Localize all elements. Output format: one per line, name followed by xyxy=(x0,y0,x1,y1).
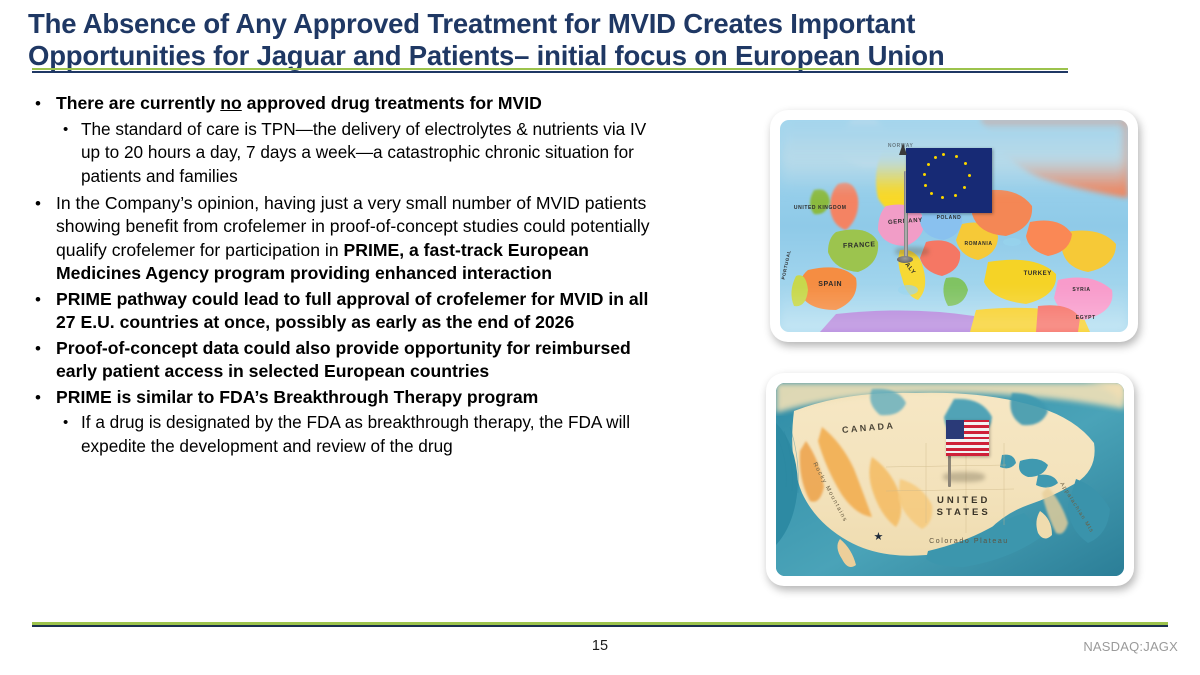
united-states-map-image: CANADA UNITED STATES Rocky Mountains Col… xyxy=(766,373,1134,586)
sub-bullet-list: If a drug is designated by the FDA as br… xyxy=(56,411,656,459)
map-label: UNITED KINGDOM xyxy=(794,205,847,211)
map-label: POLAND xyxy=(937,215,962,221)
pin-shadow xyxy=(895,247,929,256)
list-item: In the Company’s opinion, having just a … xyxy=(28,192,656,286)
bullet-text: In the Company’s opinion, having just a … xyxy=(56,192,656,286)
page-title: The Absence of Any Approved Treatment fo… xyxy=(28,2,1068,72)
content-body: There are currently no approved drug tre… xyxy=(28,92,656,462)
title-divider xyxy=(32,68,1068,73)
map-label: TURKEY xyxy=(1024,271,1052,277)
title-block: The Absence of Any Approved Treatment fo… xyxy=(28,2,1068,72)
list-item: There are currently no approved drug tre… xyxy=(28,92,656,189)
footer-divider xyxy=(32,622,1168,627)
bullet-part: Proof-of-concept data could also provide… xyxy=(56,338,631,382)
us-map-artwork: CANADA UNITED STATES Rocky Mountains Col… xyxy=(776,383,1124,576)
bullet-part: PRIME is similar to FDA’s Breakthrough T… xyxy=(56,387,538,407)
divider-green-line xyxy=(32,68,1068,70)
sub-bullet-text: If a drug is designated by the FDA as br… xyxy=(81,412,630,456)
us-photo-inner: CANADA UNITED STATES Rocky Mountains Col… xyxy=(776,383,1124,576)
pin-pole xyxy=(948,452,951,487)
bullet-part: PRIME pathway could lead to full approva… xyxy=(56,289,648,333)
pin-tip xyxy=(899,143,907,155)
eu-map-artwork: UNITED KINGDOM GERMANY FRANCE SPAIN ITAL… xyxy=(780,120,1128,332)
list-item: PRIME is similar to FDA’s Breakthrough T… xyxy=(28,386,656,459)
map-label: Colorado Plateau xyxy=(929,537,1009,546)
map-label: ROMANIA xyxy=(964,241,992,247)
eu-photo-inner: UNITED KINGDOM GERMANY FRANCE SPAIN ITAL… xyxy=(780,120,1128,332)
bullet-part: There are currently xyxy=(56,93,220,113)
page-number: 15 xyxy=(0,638,1200,654)
bullet-text: PRIME is similar to FDA’s Breakthrough T… xyxy=(56,386,656,410)
sub-bullet-text: The standard of care is TPN—the delivery… xyxy=(81,119,646,187)
map-label: UNITED STATES xyxy=(919,495,1009,519)
european-union-map-image: UNITED KINGDOM GERMANY FRANCE SPAIN ITAL… xyxy=(770,110,1138,342)
list-item: PRIME pathway could lead to full approva… xyxy=(28,288,656,335)
united-states-flag-icon xyxy=(946,420,990,457)
pin-base xyxy=(897,256,913,263)
bullet-text: PRIME pathway could lead to full approva… xyxy=(56,288,656,335)
divider-navy-line xyxy=(32,71,1068,73)
sub-list-item: If a drug is designated by the FDA as br… xyxy=(56,411,656,459)
sub-list-item: The standard of care is TPN—the delivery… xyxy=(56,118,656,189)
sub-bullet-list: The standard of care is TPN—the delivery… xyxy=(56,118,656,189)
stock-ticker: NASDAQ:JAGX xyxy=(1083,639,1178,654)
list-item: Proof-of-concept data could also provide… xyxy=(28,337,656,384)
bullet-list: There are currently no approved drug tre… xyxy=(28,92,656,459)
bullet-text: Proof-of-concept data could also provide… xyxy=(56,337,656,384)
european-union-flag-icon xyxy=(906,148,991,214)
map-label: SYRIA xyxy=(1072,287,1090,293)
map-label: EGYPT xyxy=(1076,315,1096,321)
map-star-marker: ★ xyxy=(873,530,883,543)
bullet-part: approved drug treatments for MVID xyxy=(242,93,542,113)
footer-navy-line xyxy=(32,625,1168,627)
map-label: SPAIN xyxy=(818,281,842,288)
bullet-part-emphasis: no xyxy=(220,93,242,113)
bullet-text: There are currently no approved drug tre… xyxy=(56,92,656,116)
